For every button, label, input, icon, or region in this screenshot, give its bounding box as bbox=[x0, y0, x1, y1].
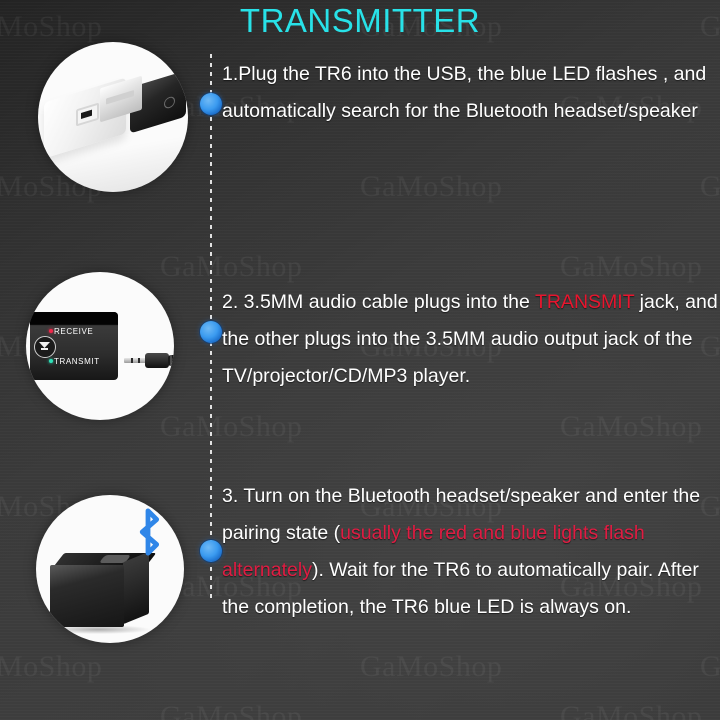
watermark-text: GaMoShop bbox=[560, 700, 702, 720]
mode-switch-icon bbox=[34, 336, 56, 358]
step-1-body: 1.Plug the TR6 into the USB, the blue LE… bbox=[222, 63, 706, 122]
step-2-body-a: 2. 3.5MM audio cable plugs into the bbox=[222, 291, 535, 313]
watermark-text: GaMoShop bbox=[560, 410, 702, 444]
audio-jack-barrel-icon bbox=[145, 353, 169, 368]
watermark-text: GaMoShop bbox=[360, 650, 502, 684]
step-3-text: 3. Turn on the Bluetooth headset/speaker… bbox=[222, 478, 718, 626]
watermark-text: GaMoShop bbox=[360, 170, 502, 204]
step-1-text: 1.Plug the TR6 into the USB, the blue LE… bbox=[222, 56, 718, 130]
audio-cable-strain-relief-icon bbox=[168, 355, 174, 366]
watermark-text: GaMoShop bbox=[160, 700, 302, 720]
speaker-front-grille-icon bbox=[50, 565, 124, 627]
step-1-marker bbox=[200, 93, 222, 115]
speaker-side-panel-icon bbox=[123, 552, 149, 625]
product-instruction-image: GaMoShopGaMoShopGaMoShopGaMoShopGaMoShop… bbox=[0, 0, 720, 720]
watermark-text: GaMoShop bbox=[700, 650, 720, 684]
tr6-top-strip-icon bbox=[30, 312, 118, 324]
audio-jack-tip-icon bbox=[124, 358, 146, 363]
receive-label: RECEIVE bbox=[54, 327, 93, 336]
watermark-text: GaMoShop bbox=[160, 250, 302, 284]
transmit-label: TRANSMIT bbox=[54, 357, 100, 366]
receive-led-icon bbox=[49, 329, 53, 333]
bluetooth-icon bbox=[128, 507, 168, 557]
watermark-text: GaMoShop bbox=[0, 650, 102, 684]
page-title: TRANSMITTER bbox=[0, 2, 720, 40]
tr6-jack-photo: RECEIVE TRANSMIT bbox=[26, 272, 174, 420]
watermark-text: GaMoShop bbox=[160, 410, 302, 444]
step-3-marker bbox=[200, 540, 222, 562]
step-2-highlight-transmit: TRANSMIT bbox=[535, 291, 634, 313]
transmit-led-icon bbox=[49, 359, 53, 363]
usb-dongle-photo bbox=[38, 42, 188, 192]
step-2-text: 2. 3.5MM audio cable plugs into the TRAN… bbox=[222, 284, 718, 395]
watermark-text: GaMoShop bbox=[560, 250, 702, 284]
watermark-text: GaMoShop bbox=[700, 170, 720, 204]
step-2-marker bbox=[200, 321, 222, 343]
bluetooth-speaker-photo bbox=[36, 495, 184, 643]
